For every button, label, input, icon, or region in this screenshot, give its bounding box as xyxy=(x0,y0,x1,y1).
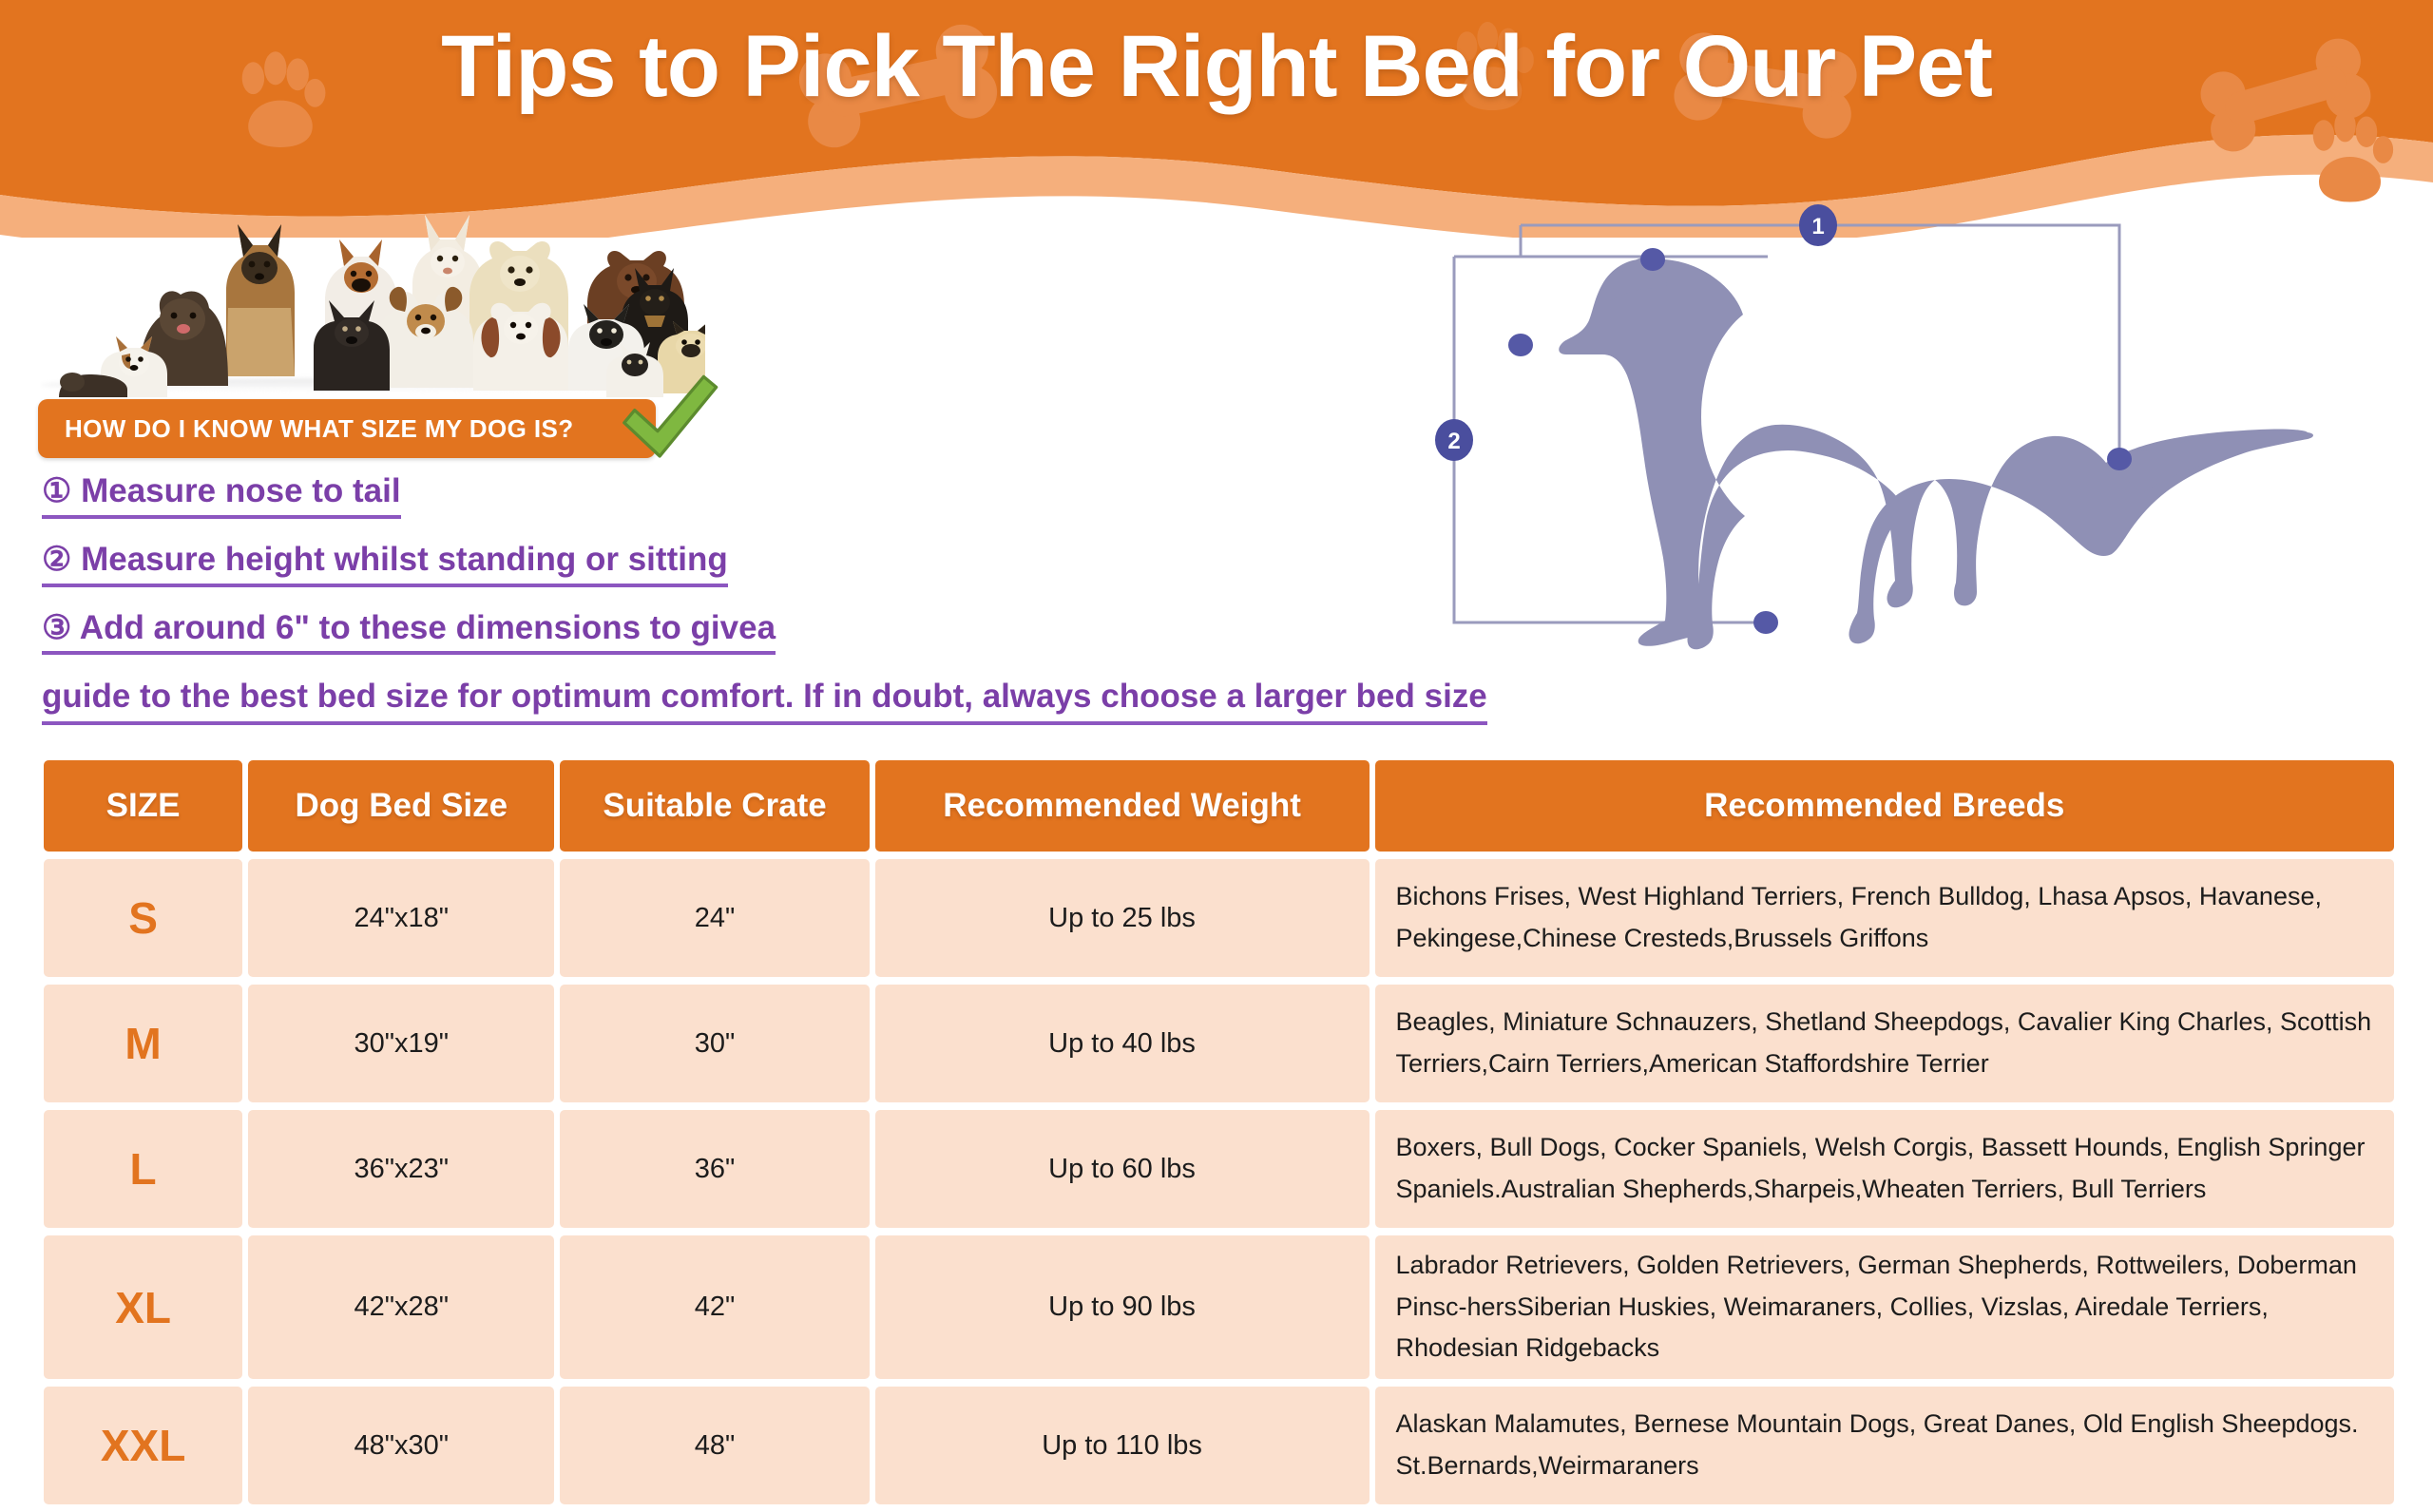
foot-marker xyxy=(1753,611,1778,634)
page-title: Tips to Pick The Right Bed for Our Pet xyxy=(0,17,2433,117)
cell-crate: 48" xyxy=(560,1387,869,1504)
column-header-bed: Dog Bed Size xyxy=(248,760,554,852)
nose-point-marker xyxy=(1508,334,1533,356)
how-do-i-know-badge: HOW DO I KNOW WHAT SIZE MY DOG IS? xyxy=(38,399,656,458)
sizing-step-1: ① Measure nose to tail xyxy=(42,473,1391,519)
column-header-crate: Suitable Crate xyxy=(560,760,869,852)
cell-breeds: Boxers, Bull Dogs, Cocker Spaniels, Wels… xyxy=(1375,1110,2395,1228)
tail-base-marker xyxy=(2107,448,2132,470)
cell-breeds: Alaskan Malamutes, Bernese Mountain Dogs… xyxy=(1375,1387,2395,1504)
table-row: M 30"x19" 30" Up to 40 lbs Beagles, Mini… xyxy=(44,985,2394,1102)
column-header-size: SIZE xyxy=(44,760,242,852)
cell-breeds: Bichons Frises, West Highland Terriers, … xyxy=(1375,859,2395,977)
cell-size: XL xyxy=(44,1235,242,1379)
table-row: XL 42"x28" 42" Up to 90 lbs Labrador Ret… xyxy=(44,1235,2394,1379)
table-row: S 24"x18" 24" Up to 25 lbs Bichons Frise… xyxy=(44,859,2394,977)
cell-size: XXL xyxy=(44,1387,242,1504)
cell-crate: 36" xyxy=(560,1110,869,1228)
measurement-badge-2-label: 2 xyxy=(1447,429,1460,454)
cell-size: S xyxy=(44,859,242,977)
cell-weight: Up to 60 lbs xyxy=(875,1110,1370,1228)
sizing-step-3: ③ Add around 6" to these dimensions to g… xyxy=(42,610,1391,656)
cell-crate: 42" xyxy=(560,1235,869,1379)
cell-size: L xyxy=(44,1110,242,1228)
cell-crate: 24" xyxy=(560,859,869,977)
how-do-i-know-label: HOW DO I KNOW WHAT SIZE MY DOG IS? xyxy=(65,399,574,458)
cell-weight: Up to 90 lbs xyxy=(875,1235,1370,1379)
cell-bed-size: 48"x30" xyxy=(248,1387,554,1504)
cell-weight: Up to 110 lbs xyxy=(875,1387,1370,1504)
dog-group-illustration xyxy=(40,186,705,405)
column-header-breeds: Recommended Breeds xyxy=(1375,760,2395,852)
dog-breeds-photo-collage xyxy=(40,186,705,405)
sizing-steps-list: ① Measure nose to tail ② Measure height … xyxy=(42,473,1391,725)
cell-weight: Up to 40 lbs xyxy=(875,985,1370,1102)
head-top-marker xyxy=(1640,248,1665,271)
sizing-closing-label: guide to the best bed size for optimum c… xyxy=(42,678,1487,725)
table-row: L 36"x23" 36" Up to 60 lbs Boxers, Bull … xyxy=(44,1110,2394,1228)
sizing-step-3-label: ③ Add around 6" to these dimensions to g… xyxy=(42,610,776,656)
table-header-row: SIZE Dog Bed Size Suitable Crate Recomme… xyxy=(44,760,2394,852)
sizing-step-2-label: ② Measure height whilst standing or sitt… xyxy=(42,542,728,587)
sizing-step-1-label: ① Measure nose to tail xyxy=(42,473,401,519)
cell-weight: Up to 25 lbs xyxy=(875,859,1370,977)
table-row: XXL 48"x30" 48" Up to 110 lbs Alaskan Ma… xyxy=(44,1387,2394,1504)
cell-bed-size: 42"x28" xyxy=(248,1235,554,1379)
cell-bed-size: 36"x23" xyxy=(248,1110,554,1228)
cell-breeds: Beagles, Miniature Schnauzers, Shetland … xyxy=(1375,985,2395,1102)
green-check-icon xyxy=(616,373,720,477)
dog-measurement-diagram: 1 2 xyxy=(1426,204,2414,699)
cell-bed-size: 24"x18" xyxy=(248,859,554,977)
cell-bed-size: 30"x19" xyxy=(248,985,554,1102)
cell-crate: 30" xyxy=(560,985,869,1102)
measurement-badge-2: 2 xyxy=(1435,419,1473,461)
measurement-badge-1-label: 1 xyxy=(1811,214,1824,239)
measurement-badge-1: 1 xyxy=(1799,204,1837,246)
column-header-weight: Recommended Weight xyxy=(875,760,1370,852)
cell-size: M xyxy=(44,985,242,1102)
sizing-closing-line: guide to the best bed size for optimum c… xyxy=(42,678,1391,725)
sizing-step-2: ② Measure height whilst standing or sitt… xyxy=(42,542,1391,587)
dog-bed-size-table: SIZE Dog Bed Size Suitable Crate Recomme… xyxy=(38,753,2400,1512)
cell-breeds: Labrador Retrievers, Golden Retrievers, … xyxy=(1375,1235,2395,1379)
